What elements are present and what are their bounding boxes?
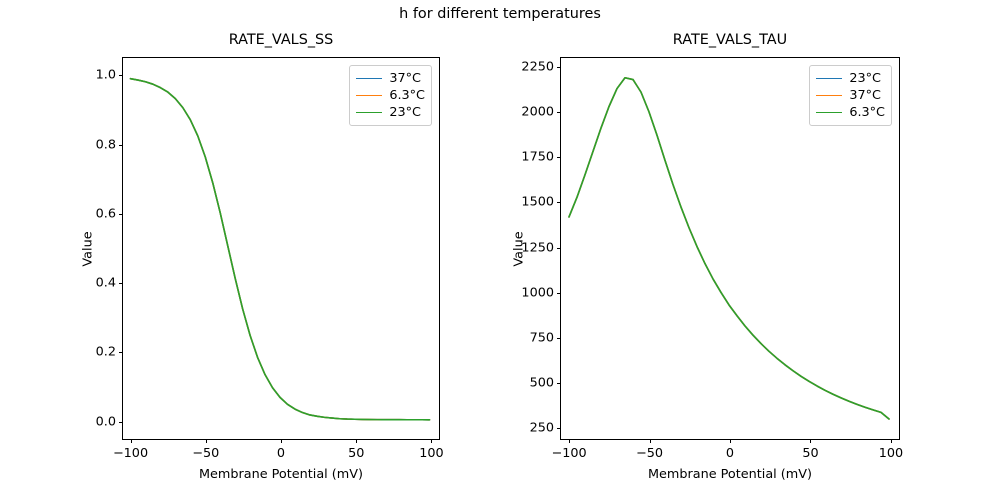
x-tick-label: −100 [551,446,586,461]
y-tick-label: 0.4 [96,276,116,291]
y-tick-label: 750 [530,330,554,345]
legend-label: 23°C [389,105,421,120]
x-tick [281,439,282,443]
x-tick-label: 100 [879,446,903,461]
x-tick-label: 100 [419,446,443,461]
y-tick [557,67,561,68]
y-tick [557,428,561,429]
axes-rate-vals-ss: RATE_VALS_SS Membrane Potential (mV) Val… [122,57,440,440]
axes-right-title: RATE_VALS_TAU [561,32,899,48]
matplotlib-figure: h for different temperatures RATE_VALS_S… [0,0,1000,500]
y-tick-label: 1000 [521,285,554,300]
x-tick [431,439,432,443]
legend-label: 6.3°C [389,88,425,103]
y-tick-label: 1500 [521,195,554,210]
legend-swatch-icon [816,95,842,96]
x-tick [131,439,132,443]
y-tick-label: 0.6 [96,206,116,221]
series-line [130,79,429,420]
legend-label: 6.3°C [849,105,885,120]
legend-swatch-icon [356,78,382,79]
x-tick-label: 50 [802,446,818,461]
x-tick [891,439,892,443]
x-tick [730,439,731,443]
y-tick [119,283,123,284]
axes-rate-vals-tau: RATE_VALS_TAU Membrane Potential (mV) Va… [560,57,900,440]
legend-entry[interactable]: 23°C [816,70,885,87]
y-tick-label: 0.2 [96,345,116,360]
x-tick [206,439,207,443]
x-tick [650,439,651,443]
y-tick-label: 2000 [521,105,554,120]
y-tick-label: 500 [530,376,554,391]
x-tick-label: −100 [113,446,148,461]
series-line [130,79,429,420]
axes-left-title: RATE_VALS_SS [123,32,439,48]
legend-label: 37°C [849,88,881,103]
legend-entry[interactable]: 6.3°C [356,87,425,104]
legend-entry[interactable]: 23°C [356,104,425,121]
y-tick-label: 0.0 [96,414,116,429]
figure-suptitle: h for different temperatures [0,6,1000,22]
axes-left-ylabel: Value [81,231,96,266]
axes-right-xlabel: Membrane Potential (mV) [561,467,899,482]
x-tick [810,439,811,443]
legend-label: 23°C [849,71,881,86]
y-tick [119,214,123,215]
legend-swatch-icon [356,112,382,113]
x-tick [569,439,570,443]
y-tick [119,75,123,76]
series-line [130,79,429,420]
x-tick [356,439,357,443]
y-tick [557,157,561,158]
series-line [569,78,889,419]
y-tick [119,422,123,423]
x-tick-label: −50 [192,446,219,461]
x-tick-label: 0 [277,446,285,461]
y-tick [119,145,123,146]
x-tick-label: 50 [348,446,364,461]
legend-swatch-icon [816,78,842,79]
series-line [569,78,889,419]
legend-label: 37°C [389,71,421,86]
x-tick-label: −50 [636,446,663,461]
legend-entry[interactable]: 37°C [356,70,425,87]
y-tick [557,202,561,203]
axes-left-xlabel: Membrane Potential (mV) [123,467,439,482]
y-tick [557,293,561,294]
y-tick-label: 250 [530,421,554,436]
legend-right[interactable]: 23°C37°C6.3°C [809,65,892,126]
y-tick-label: 2250 [521,60,554,75]
y-tick-label: 1.0 [96,68,116,83]
y-tick [557,383,561,384]
y-tick [557,112,561,113]
y-tick [557,248,561,249]
y-tick-label: 0.8 [96,137,116,152]
x-tick-label: 0 [726,446,734,461]
legend-swatch-icon [816,112,842,113]
legend-swatch-icon [356,95,382,96]
legend-entry[interactable]: 6.3°C [816,104,885,121]
series-line [569,78,889,419]
y-tick-label: 1250 [521,240,554,255]
y-tick-label: 1750 [521,150,554,165]
y-tick [557,338,561,339]
legend-left[interactable]: 37°C6.3°C23°C [349,65,432,126]
y-tick [119,352,123,353]
legend-entry[interactable]: 37°C [816,87,885,104]
